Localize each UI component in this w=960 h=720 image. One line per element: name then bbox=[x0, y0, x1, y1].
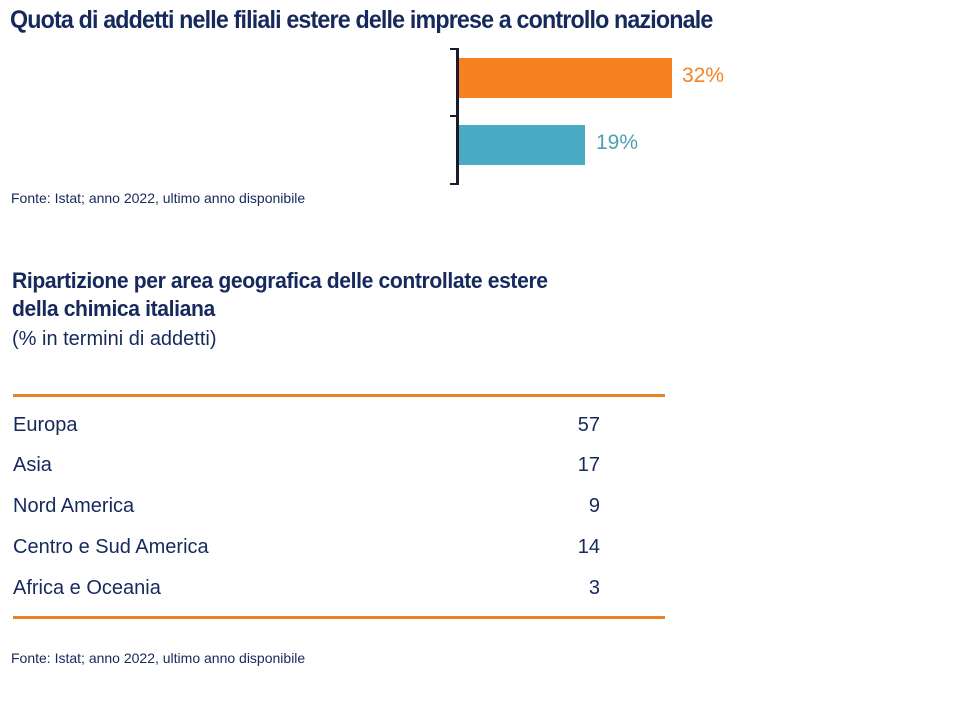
axis-tick-middle bbox=[450, 115, 457, 117]
axis-tick-top bbox=[450, 48, 457, 50]
axis-tick-bottom bbox=[450, 183, 457, 185]
table-row: Africa e Oceania 3 bbox=[13, 577, 665, 617]
bar-rect-chimica bbox=[459, 58, 672, 98]
table-title-line-2: della chimica italiana bbox=[12, 296, 215, 321]
page-title: Quota di addetti nelle filiali estere de… bbox=[10, 5, 903, 35]
source-note-bar-chart: Fonte: Istat; anno 2022, ultimo anno dis… bbox=[11, 190, 305, 206]
bar-rect-ind-manifatturiera bbox=[459, 125, 585, 165]
table-row: Europa 57 bbox=[13, 414, 665, 454]
source-note-table: Fonte: Istat; anno 2022, ultimo anno dis… bbox=[11, 650, 305, 666]
table-cell-value: 9 bbox=[13, 495, 600, 518]
table-row: Centro e Sud America 14 bbox=[13, 536, 665, 576]
bar-value-ind-manifatturiera: 19% bbox=[596, 131, 638, 155]
table-cell-value: 57 bbox=[13, 414, 600, 437]
table-subtitle: (% in termini di addetti) bbox=[12, 328, 217, 351]
bar-value-chimica: 32% bbox=[682, 64, 724, 88]
table-rule-top bbox=[13, 394, 665, 397]
table-row: Nord America 9 bbox=[13, 495, 665, 535]
table-title-line-1: Ripartizione per area geografica delle c… bbox=[12, 268, 548, 293]
table-cell-value: 17 bbox=[13, 454, 600, 477]
table-cell-value: 14 bbox=[13, 536, 600, 559]
bar-chart: Chimica 32% Ind. manifatturiera 19% bbox=[0, 45, 960, 190]
table-title: Ripartizione per area geografica delle c… bbox=[12, 267, 809, 323]
table-cell-value: 3 bbox=[13, 577, 600, 600]
table-row: Asia 17 bbox=[13, 454, 665, 494]
